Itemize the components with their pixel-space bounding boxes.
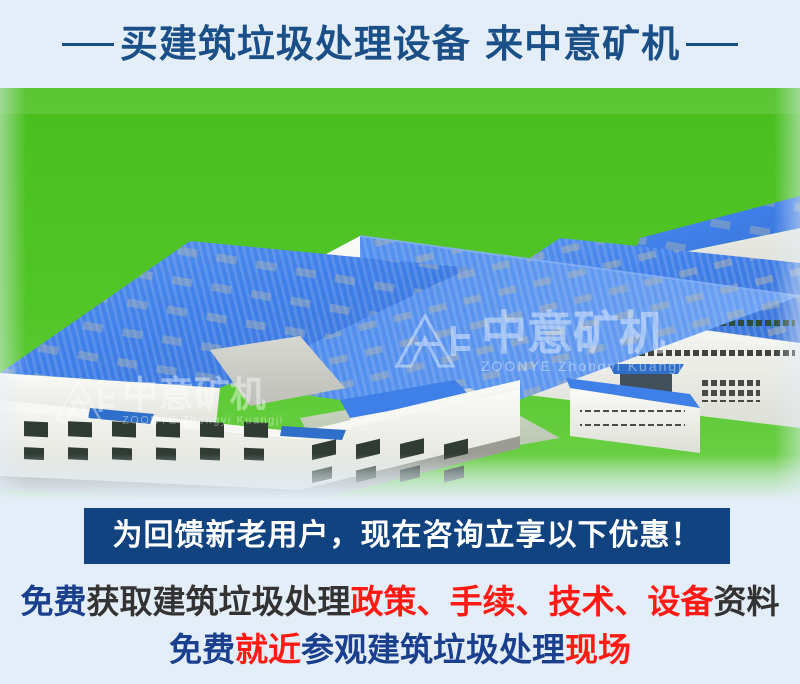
factory-photo: 中意矿机 ZOONYE Zhongyi Kuangji 中意矿机 ZOONYE … [0,88,800,500]
promo-banner-page: 买建筑垃圾处理设备 来中意矿机 [0,0,800,684]
header: 买建筑垃圾处理设备 来中意矿机 [0,0,800,88]
offer-segment: 免费 [21,582,87,621]
offer-list: 免费获取建筑垃圾处理政策、手续、技术、设备资料 免费就近参观建筑垃圾处理现场 [0,578,800,674]
offer-line: 免费就近参观建筑垃圾处理现场 [0,626,800,674]
header-rule-left [62,43,114,46]
page-title: 买建筑垃圾处理设备 来中意矿机 [120,25,680,63]
offer-segment: 政策、手续、技术、设备 [351,582,714,621]
offer-segment: 获取建筑垃圾处理 [87,582,351,621]
offer-segment: 就近 [235,630,301,669]
offer-segment: 免费 [169,630,235,669]
header-rule-right [686,43,738,46]
promo-banner: 为回馈新老用户，现在咨询立享以下优惠！ [84,508,730,564]
offer-segment: 现场 [565,630,631,669]
offer-segment: 参观建筑垃圾处理 [301,630,565,669]
promo-banner-text: 为回馈新老用户，现在咨询立享以下优惠！ [113,521,702,551]
offer-line: 免费获取建筑垃圾处理政策、手续、技术、设备资料 [0,578,800,626]
factory-illustration [0,88,800,500]
offer-segment: 资料 [714,582,780,621]
